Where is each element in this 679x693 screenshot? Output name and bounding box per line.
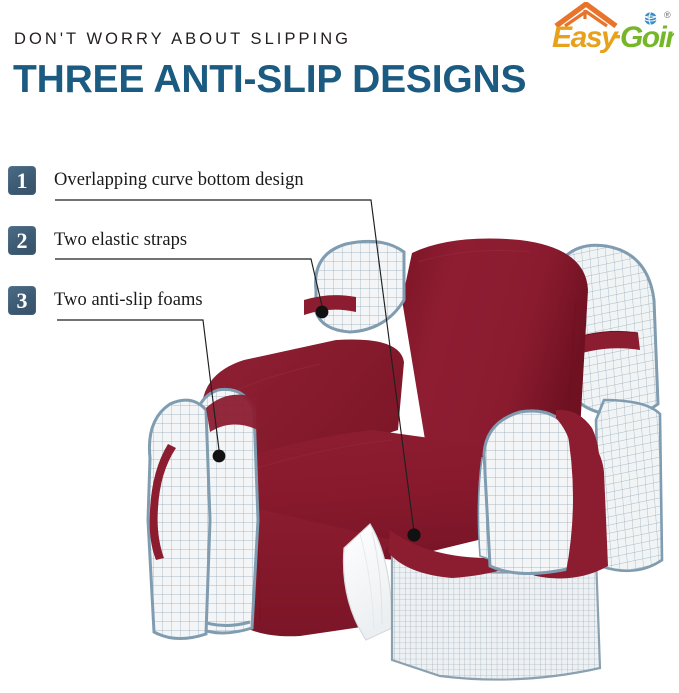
callout-label-2: Two elastic straps [54, 230, 187, 251]
callout-label-1: Overlapping curve bottom design [54, 170, 304, 191]
callout-item-2[interactable]: 2 Two elastic straps [8, 226, 187, 255]
marker-anti-slip-foam [213, 450, 226, 463]
marker-overlapping-curve-bottom [407, 528, 420, 541]
marker-elastic-strap [316, 306, 329, 319]
callout-item-3[interactable]: 3 Two anti-slip foams [8, 286, 203, 315]
callout-badge-1: 1 [8, 166, 36, 195]
right-armrest-grid-pad [484, 411, 579, 574]
chair-illustration [0, 0, 679, 693]
callout-label-3: Two anti-slip foams [54, 290, 203, 311]
callout-badge-2: 2 [8, 226, 36, 255]
chair-left-wing-top [304, 241, 404, 332]
callout-item-1[interactable]: 1 Overlapping curve bottom design [8, 166, 304, 195]
callout-badge-3: 3 [8, 286, 36, 315]
